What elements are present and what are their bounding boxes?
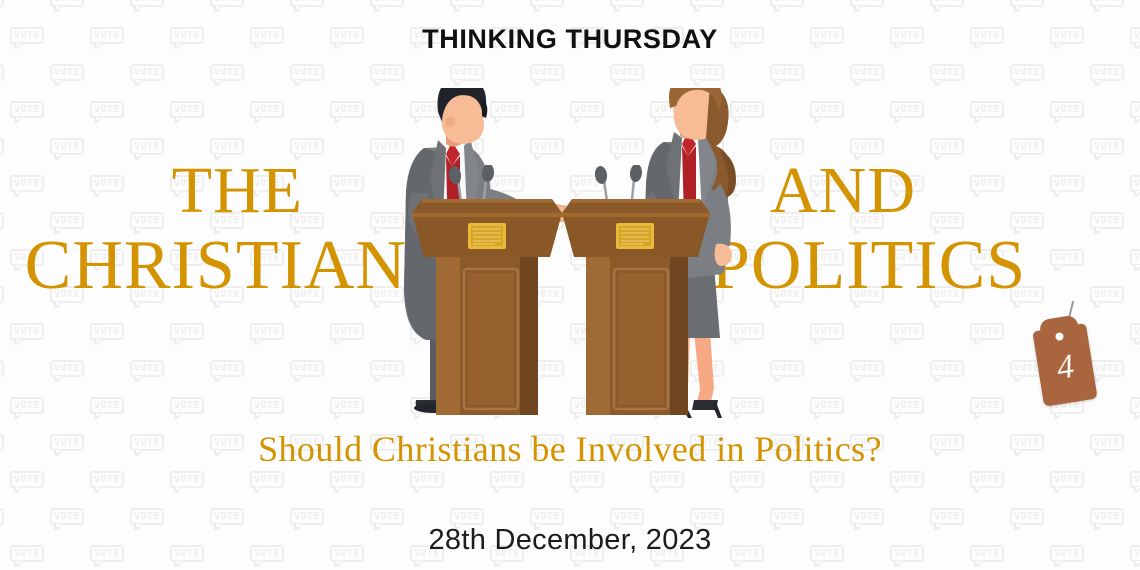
tag-hole-icon [1055,332,1064,341]
headline-left-line1: THE [0,160,415,223]
tag-body: 4 [1032,323,1097,407]
episode-number: 4 [1036,345,1095,391]
headline-left: THE CHRISTIAN [0,160,415,299]
subtitle: Should Christians be Involved in Politic… [0,428,1140,470]
event-date: 28th December, 2023 [0,524,1140,557]
page-title: THINKING THURSDAY [0,24,1140,55]
poster-content: THINKING THURSDAY THE CHRISTIAN AND POLI… [0,0,1140,570]
headline-left-line2: CHRISTIAN [0,233,415,300]
episode-hang-tag: 4 [1022,300,1108,410]
podiums [400,165,720,420]
poster-canvas: VOTEVOTEVOTEVOTEVOTEVOTEVOTEVOTEVOTEVOTE… [0,0,1140,570]
